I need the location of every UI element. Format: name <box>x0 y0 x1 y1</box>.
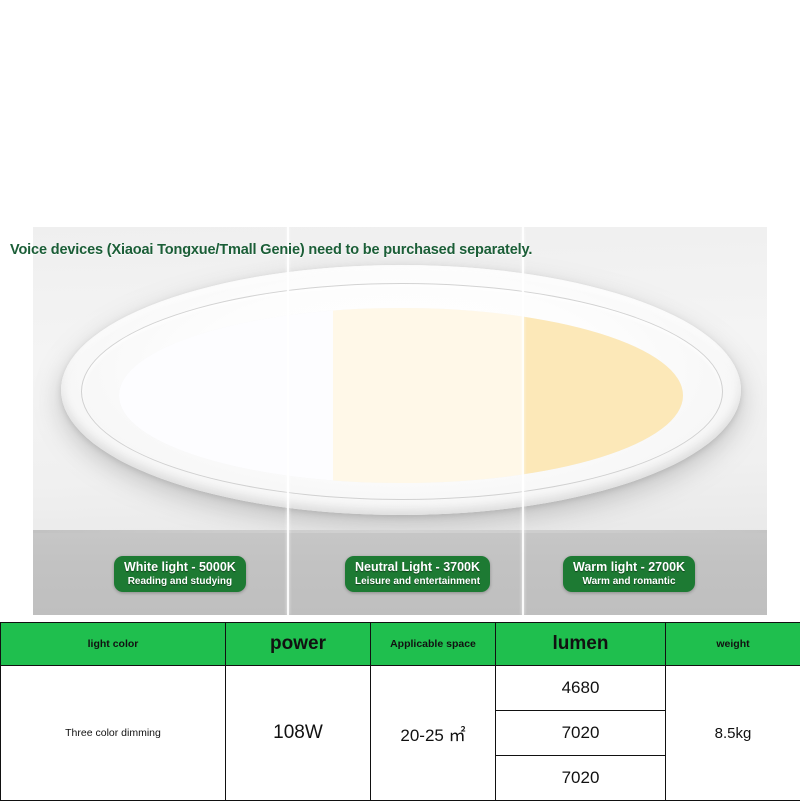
badge-title: Neutral Light - 3700K <box>355 560 480 574</box>
badge-subtitle: Leisure and entertainment <box>355 576 480 587</box>
headline-note: Voice devices (Xiaoai Tongxue/Tmall Geni… <box>10 242 532 258</box>
badge-subtitle: Warm and romantic <box>573 576 685 587</box>
badge-neutral-light: Neutral Light - 3700K Leisure and entert… <box>345 556 490 592</box>
zone-divider-left <box>287 227 289 615</box>
table-row: Three color dimming 108W 20-25 ㎡ 4680 8.… <box>1 666 800 711</box>
cell-lumen: 7020 <box>496 711 666 756</box>
specification-table: light color power Applicable space lumen… <box>0 622 800 801</box>
badge-white-light: White light - 5000K Reading and studying <box>114 556 246 592</box>
column-header-applicable-space: Applicable space <box>371 623 496 666</box>
warm-light-zone <box>522 308 683 483</box>
neutral-light-zone <box>333 308 522 483</box>
zone-divider-right <box>522 227 524 615</box>
lamp-diffuser-panel <box>119 308 683 483</box>
badge-warm-light: Warm light - 2700K Warm and romantic <box>563 556 695 592</box>
column-header-light-color: light color <box>1 623 226 666</box>
table-header-row: light color power Applicable space lumen… <box>1 623 800 666</box>
cell-applicable-space: 20-25 ㎡ <box>371 666 496 801</box>
badge-subtitle: Reading and studying <box>124 576 236 587</box>
badge-title: Warm light - 2700K <box>573 560 685 574</box>
cell-lumen: 7020 <box>496 756 666 801</box>
cell-lumen: 4680 <box>496 666 666 711</box>
column-header-power: power <box>226 623 371 666</box>
ceiling-lamp <box>61 265 741 515</box>
column-header-weight: weight <box>666 623 800 666</box>
cell-power: 108W <box>226 666 371 801</box>
cell-weight: 8.5kg <box>666 666 800 801</box>
badge-title: White light - 5000K <box>124 560 236 574</box>
white-light-zone <box>119 308 333 483</box>
cell-light-color: Three color dimming <box>1 666 226 801</box>
column-header-lumen: lumen <box>496 623 666 666</box>
